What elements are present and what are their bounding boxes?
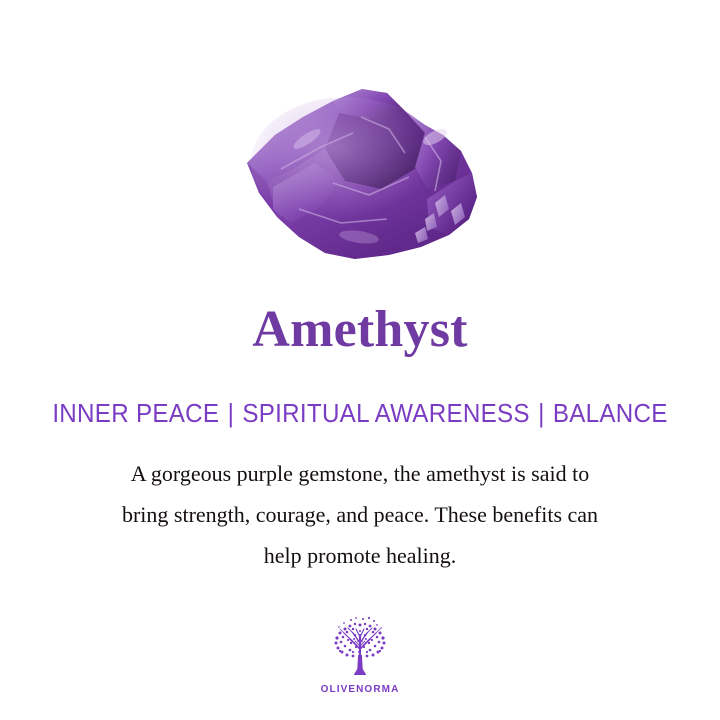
gemstone-image (0, 74, 720, 269)
keyword-list: INNER PEACE|SPIRITUAL AWARENESS|BALANCE (25, 398, 695, 428)
page-title: Amethyst (0, 299, 720, 361)
keyword-inner-peace: INNER PEACE (52, 398, 219, 428)
brand-lockup: OLIVENORMA (0, 615, 720, 695)
brand-name: OLIVENORMA (321, 684, 400, 695)
keyword-balance: BALANCE (553, 398, 668, 428)
description-line-1: A gorgeous purple gemstone, the amethyst… (60, 453, 660, 494)
gem-inner-glow (251, 97, 443, 229)
tree-of-life-icon (329, 615, 391, 681)
amethyst-product-card: Amethyst INNER PEACE|SPIRITUAL AWARENESS… (0, 0, 720, 720)
description-line-2: bring strength, courage, and peace. Thes… (60, 494, 660, 535)
keyword-separator-1: | (219, 398, 242, 428)
description-line-3: help promote healing. (60, 535, 660, 576)
keyword-spiritual-awareness: SPIRITUAL AWARENESS (242, 398, 529, 428)
raw-amethyst-crystal-icon (229, 77, 491, 267)
product-description: A gorgeous purple gemstone, the amethyst… (60, 453, 660, 576)
keyword-separator-2: | (530, 398, 553, 428)
